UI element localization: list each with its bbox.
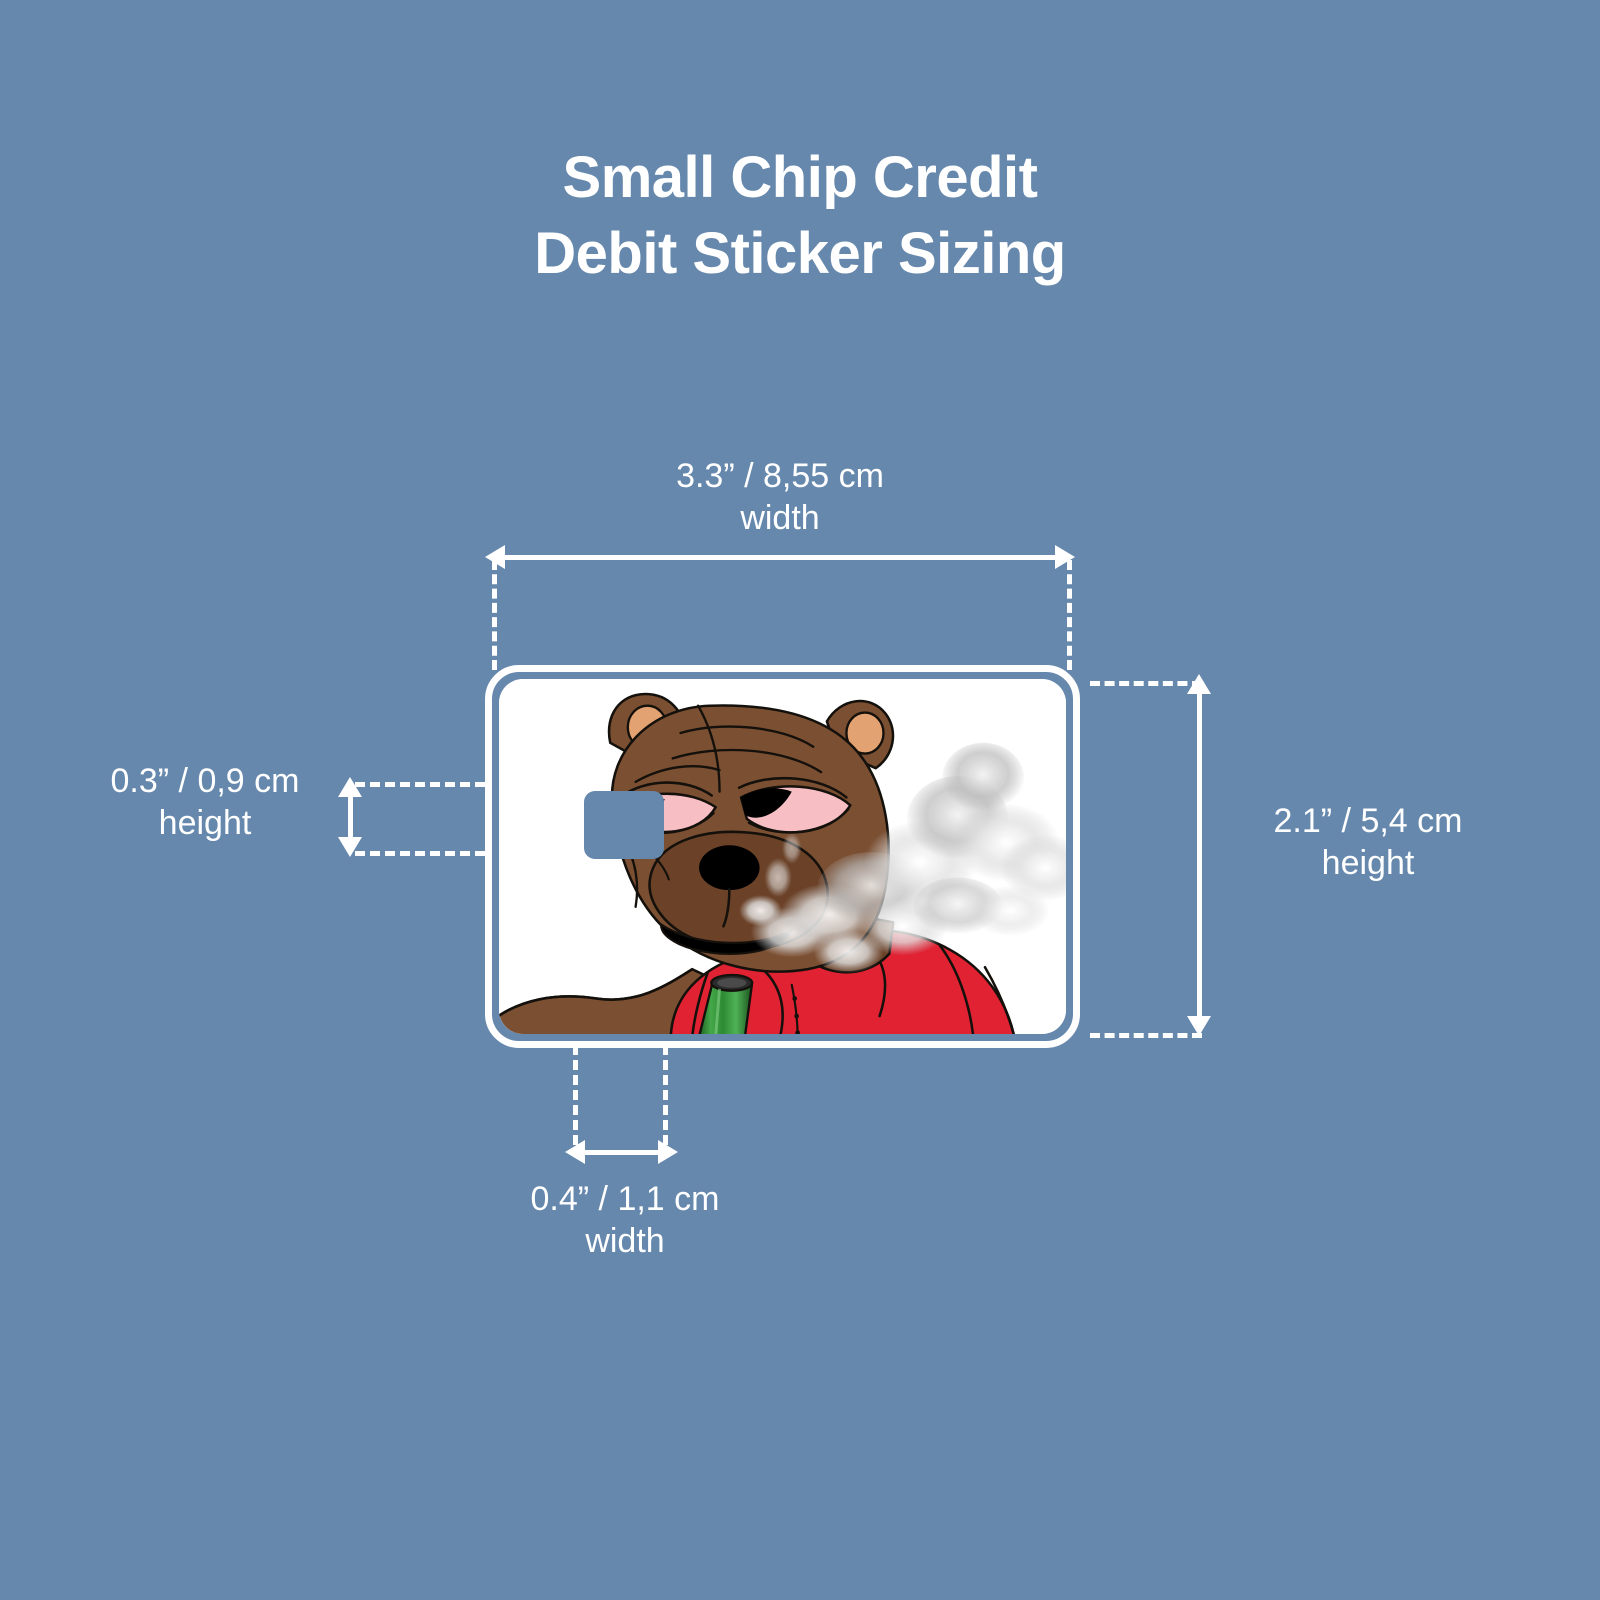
chip-width-arrow-line (583, 1150, 661, 1155)
bear-nose (699, 845, 760, 890)
card-face (499, 679, 1066, 1034)
card-height-label: 2.1” / 5,4 cm height (1218, 800, 1518, 884)
card-width-arrow-right (1055, 545, 1075, 569)
card-height-extension-bottom (1090, 1033, 1202, 1038)
card-width-extension-right (1067, 560, 1072, 670)
chip-height-label: 0.3” / 0,9 cm height (80, 760, 330, 844)
chip-width-extension-right (663, 1045, 668, 1145)
sizing-diagram: Small Chip Credit Debit Sticker Sizing 3… (0, 0, 1600, 1600)
card-chip (584, 791, 664, 859)
chip-width-label: 0.4” / 1,1 cm width (430, 1178, 820, 1262)
card-height-arrow-line (1197, 692, 1202, 1022)
chip-width-arrow-right (658, 1140, 678, 1164)
smoking-bear-sticker-art (499, 679, 1066, 1034)
chip-width-extension-left (573, 1045, 578, 1145)
chip-height-arrow-top (338, 777, 362, 797)
card-width-extension-left (492, 560, 497, 670)
chip-height-arrow-line (348, 795, 353, 843)
card-width-arrow-line (505, 555, 1055, 560)
page-title: Small Chip Credit Debit Sticker Sizing (0, 140, 1600, 292)
credit-card-mockup (485, 665, 1080, 1048)
card-width-label: 3.3” / 8,55 cm width (580, 455, 980, 539)
card-height-extension-top (1090, 681, 1202, 686)
